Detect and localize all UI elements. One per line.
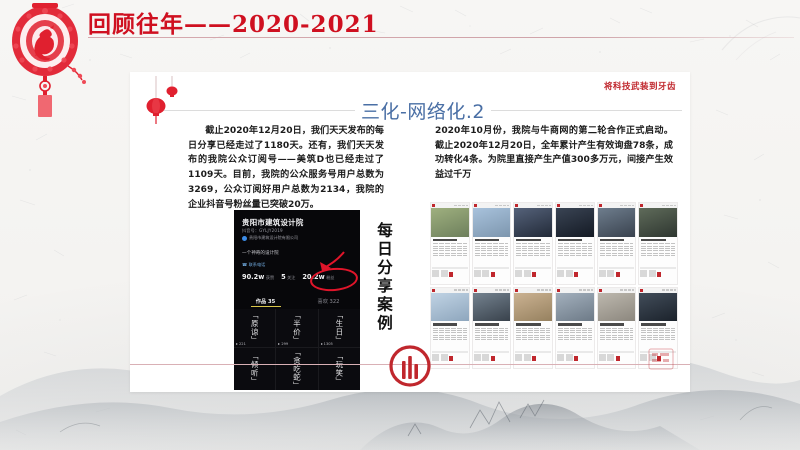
article-body [514, 321, 552, 350]
article-header [598, 288, 636, 293]
video-title: 「玩笑」 [334, 352, 345, 386]
article-card[interactable] [513, 202, 553, 285]
stat-value: 5 [281, 273, 286, 281]
article-card[interactable] [472, 202, 512, 285]
article-thumbnail [473, 208, 511, 237]
article-header [431, 288, 469, 293]
phone-icon: ☎ [242, 262, 247, 267]
article-card[interactable] [555, 202, 595, 285]
article-thumbnail [514, 208, 552, 237]
article-body [514, 237, 552, 266]
tab-likes[interactable]: 喜欢 322 [297, 294, 360, 308]
video-title: 「倾听」 [249, 352, 260, 386]
article-card[interactable] [597, 202, 637, 285]
article-thumbnail [556, 293, 594, 322]
red-seal-stamp [648, 348, 674, 370]
douyin-stat-likes: 90.2w 获赞 [242, 273, 274, 281]
left-paragraph-text: 截止2020年12月20日，我们天天发布的每日分享已经走过了1180天。还有，我… [188, 124, 384, 212]
article-footer [514, 266, 552, 284]
article-thumbnail [514, 293, 552, 322]
douyin-contact-label: 联系电话 [249, 262, 266, 267]
article-header [473, 203, 511, 208]
slide-stage: 回顾往年——2020-2021 将科技武装到牙齿 三化-网络化.2 截止2020… [0, 0, 800, 450]
douyin-stat-following: 5 关注 [281, 273, 295, 281]
slide-card: 将科技武装到牙齿 三化-网络化.2 截止2020年12月20日，我们天天发布的每… [130, 72, 690, 392]
article-body [473, 321, 511, 350]
article-thumbnail [556, 208, 594, 237]
douyin-account-id: 抖音号：GYLJY2019 [242, 228, 283, 234]
article-footer [556, 350, 594, 368]
video-thumb[interactable]: 「原谅」 221 [234, 309, 275, 347]
video-thumb[interactable]: 「生日」 1305 [319, 309, 360, 347]
article-footer [598, 350, 636, 368]
article-thumbnail [473, 293, 511, 322]
article-thumbnail [639, 208, 677, 237]
article-body [431, 321, 469, 350]
douyin-bio: 一个神奇的设计院 [242, 250, 279, 256]
video-thumb[interactable]: 「贪吃蛇」 [276, 348, 317, 390]
article-card[interactable] [430, 287, 470, 370]
video-thumb[interactable]: 「倾听」 [234, 348, 275, 390]
article-header [556, 288, 594, 293]
slide-kicker: 将科技武装到牙齿 [604, 80, 676, 92]
article-card[interactable] [472, 287, 512, 370]
article-body [598, 321, 636, 350]
article-thumbnail [598, 208, 636, 237]
article-header [473, 288, 511, 293]
douyin-tabs: 作品 35 喜欢 322 [234, 294, 360, 308]
stat-label: 关注 [287, 275, 295, 281]
vertical-caption: 每日分享案例 [373, 222, 395, 352]
wechat-article-grid [430, 202, 678, 369]
video-play-count: 221 [236, 342, 246, 346]
verified-badge-icon [242, 236, 247, 241]
slide-heading: 三化-网络化.2 [355, 97, 491, 124]
video-thumb[interactable]: 「玩笑」 [319, 348, 360, 390]
video-title: 「原谅」 [249, 311, 260, 345]
article-header [598, 203, 636, 208]
article-card[interactable] [513, 287, 553, 370]
article-header [514, 288, 552, 293]
right-paragraph: 2020年10月份，我院与牛商网的第二轮合作正式启动。截止2020年12月20日… [435, 124, 673, 183]
article-footer [431, 350, 469, 368]
article-body [473, 237, 511, 266]
tab-works[interactable]: 作品 35 [234, 294, 297, 308]
douyin-verified-text: 贵阳市建筑设计院有限公司 [249, 235, 298, 241]
douyin-verified-row: 贵阳市建筑设计院有限公司 [242, 235, 298, 241]
article-footer [514, 350, 552, 368]
title-divider [88, 37, 794, 38]
video-title: 「贪吃蛇」 [291, 348, 302, 390]
page-title: 回顾往年——2020-2021 [88, 5, 379, 39]
institute-logo [388, 344, 432, 388]
article-card[interactable] [638, 202, 678, 285]
article-card[interactable] [430, 202, 470, 285]
article-body [556, 321, 594, 350]
papercut-lantern-ornament [2, 0, 88, 118]
douyin-profile-screenshot: 贵阳市建筑设计院 抖音号：GYLJY2019 贵阳市建筑设计院有限公司 一个神奇… [234, 210, 360, 390]
douyin-video-grid: 「原谅」 221 「半价」 299 「生日」 1305 「倾听」 「贪吃蛇」 [234, 309, 360, 390]
article-header [431, 203, 469, 208]
video-thumb[interactable]: 「半价」 299 [276, 309, 317, 347]
video-title: 「半价」 [291, 311, 302, 345]
video-title: 「生日」 [334, 311, 345, 345]
douyin-contact-pill[interactable]: ☎ 联系电话 [242, 262, 265, 268]
video-play-count: 299 [278, 342, 288, 346]
article-body [556, 237, 594, 266]
article-thumbnail [431, 208, 469, 237]
article-footer [473, 266, 511, 284]
article-footer [431, 266, 469, 284]
article-body [639, 321, 677, 350]
article-card[interactable] [597, 287, 637, 370]
article-footer [639, 266, 677, 284]
article-card[interactable] [555, 287, 595, 370]
article-footer [473, 350, 511, 368]
article-header [514, 203, 552, 208]
article-thumbnail [639, 293, 677, 322]
article-header [556, 203, 594, 208]
slide-heading-row: 三化-网络化.2 [130, 97, 690, 124]
article-header [639, 203, 677, 208]
article-body [639, 237, 677, 266]
article-footer [598, 266, 636, 284]
article-body [598, 237, 636, 266]
stat-value: 90.2w [242, 273, 264, 281]
left-paragraph: 截止2020年12月20日，我们天天发布的每日分享已经走过了1180天。还有，我… [188, 124, 384, 212]
ink-wisp-top-right [710, 0, 800, 70]
article-body [431, 237, 469, 266]
heading-rule-right [491, 110, 682, 111]
article-thumbnail [598, 293, 636, 322]
heading-rule-left [164, 110, 355, 111]
video-play-count: 1305 [321, 342, 333, 346]
article-footer [556, 266, 594, 284]
article-header [639, 288, 677, 293]
stat-label: 获赞 [266, 275, 274, 281]
article-thumbnail [431, 293, 469, 322]
douyin-account-name: 贵阳市建筑设计院 [242, 217, 304, 228]
